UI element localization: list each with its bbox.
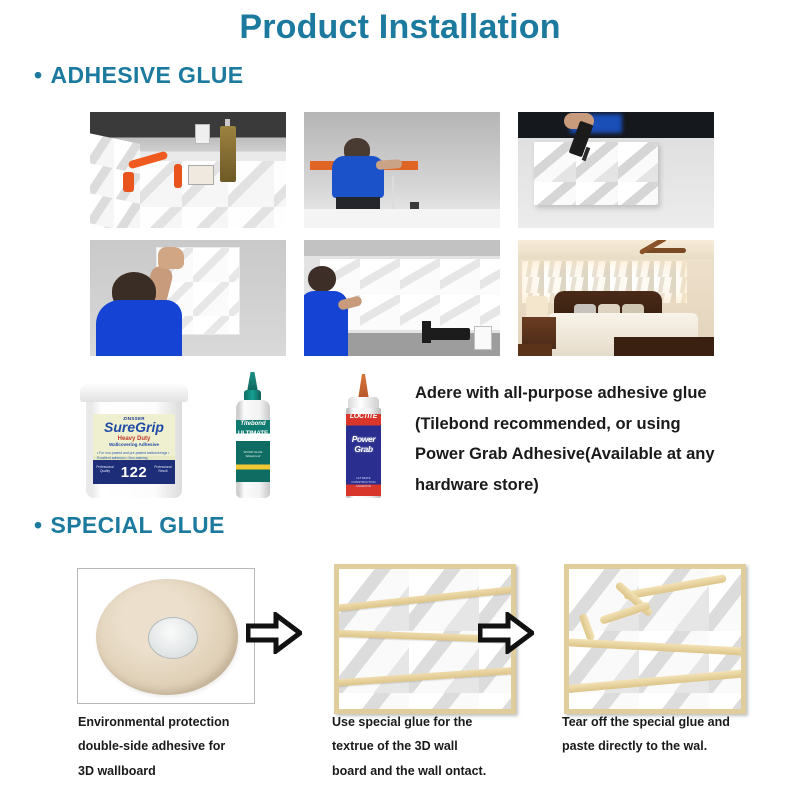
caulk-tube [220, 126, 236, 182]
bucket-brand: SureGrip [93, 420, 175, 434]
step-2-caption-line-2: textrue of the 3D wall [332, 734, 532, 758]
section-heading-special-label: SPECIAL GLUE [50, 512, 224, 538]
orange-stick [174, 164, 182, 188]
bottle-line1: ULTIMATE [236, 430, 270, 437]
bucket-number-band: Professional Quality 122 Professional Re… [93, 460, 175, 484]
page-title: Product Installation [0, 8, 800, 47]
step-tape-roll: Environmental protection double-side adh… [68, 560, 268, 708]
tube-label: LOCTITE Power Grab ULTIMATE CONSTRUCTION… [346, 414, 381, 496]
table-lamp [526, 296, 548, 318]
photo-applying-glue-to-panel [518, 112, 714, 228]
installation-photo-grid [90, 112, 714, 356]
step-3-figure [552, 560, 752, 708]
tube-line1: Power Grab [346, 434, 381, 454]
bucket-line2: Wallcovering Adhesive [93, 442, 175, 447]
adhesive-note-line-1: Adere with all-purpose adhesive glue [415, 378, 790, 409]
arrow-right-icon [478, 612, 534, 654]
black-tool [424, 328, 470, 340]
step-1-caption-line-2: double-side adhesive for [78, 734, 278, 758]
step-1-caption-line-1: Environmental protection [78, 710, 278, 734]
product-titebond-bottle: Titebond ULTIMATE WOOD GLUE Waterproof [232, 372, 274, 498]
adhesive-product-row: ZINSSER SureGrip Heavy Duty Wallcovering… [78, 372, 398, 498]
bullet-icon: • [34, 514, 42, 537]
roller-handle [123, 172, 134, 192]
tape-roll-box [77, 568, 255, 704]
section-heading-adhesive-glue: •ADHESIVE GLUE [34, 62, 244, 89]
section-heading-special-glue: •SPECIAL GLUE [34, 512, 225, 539]
wood-floor [518, 344, 552, 356]
step-2-caption: Use special glue for the textrue of the … [332, 710, 532, 783]
step-1-caption: Environmental protection double-side adh… [78, 710, 278, 783]
step-3-caption-line-1: Tear off the special glue and [562, 710, 762, 734]
person-blue-shirt [96, 300, 182, 356]
bottle-brand: Titebond [236, 421, 270, 427]
counter-surface [304, 209, 500, 228]
hanging-cord [392, 176, 394, 210]
bucket-band-right: Professional Result [152, 465, 174, 473]
adhesive-note-line-4: hardware store) [415, 470, 790, 501]
photo-man-marking-wall [304, 112, 500, 228]
3d-panel [534, 142, 658, 205]
adhesive-note-line-3: Power Grab Adhesive(Available at any [415, 439, 790, 470]
step-peel-tape: Tear off the special glue and paste dire… [552, 560, 752, 708]
bottle-fine-print: WOOD GLUE Waterproof [236, 450, 270, 458]
section-heading-adhesive-label: ADHESIVE GLUE [50, 62, 243, 88]
person-head [308, 266, 336, 292]
3d-panel-tape-peeled [564, 564, 746, 714]
product-power-grab-tube: LOCTITE Power Grab ULTIMATE CONSTRUCTION… [336, 374, 392, 498]
step-3-caption-line-2: paste directly to the wal. [562, 734, 762, 758]
adhesive-note-text: Adere with all-purpose adhesive glue (Ti… [415, 378, 790, 500]
wall-outlet [474, 326, 492, 350]
tube-brand: LOCTITE [346, 414, 381, 420]
bed-footboard [614, 337, 714, 356]
photo-finished-bedroom [518, 240, 714, 356]
tube-fine-print: ULTIMATE CONSTRUCTION ADHESIVE [346, 476, 381, 489]
bucket-lid [80, 384, 188, 402]
photo-pressing-panel-to-wall [90, 240, 286, 356]
wall-outlet [195, 124, 210, 144]
adhesive-tin [188, 165, 214, 185]
step-1-figure [68, 560, 268, 708]
double-side-tape-roll-icon [96, 579, 238, 695]
step-2-caption-line-3: board and the wall ontact. [332, 759, 532, 783]
photo-installed-panel-row [304, 240, 500, 356]
step-3-caption: Tear off the special glue and paste dire… [562, 710, 762, 759]
special-glue-steps: Environmental protection double-side adh… [60, 560, 760, 790]
product-suregrip-bucket: ZINSSER SureGrip Heavy Duty Wallcovering… [80, 380, 188, 498]
photo-tools-and-panels [90, 112, 286, 228]
bottle-label: Titebond ULTIMATE WOOD GLUE Waterproof [236, 420, 270, 482]
person-arm [376, 159, 403, 170]
step-2-caption-line-1: Use special glue for the [332, 710, 532, 734]
bucket-product-number: 122 [121, 464, 148, 481]
tape-roll-core [148, 617, 198, 659]
person-hand [158, 247, 184, 269]
arrow-right-icon [246, 612, 302, 654]
bucket-band-left: Professional Quality [94, 465, 116, 473]
bottle-cap [247, 372, 258, 392]
bullet-icon: • [34, 64, 42, 87]
step-1-caption-line-3: 3D wallboard [78, 759, 278, 783]
adhesive-note-line-2: (Tilebond recommended, or using [415, 409, 790, 440]
